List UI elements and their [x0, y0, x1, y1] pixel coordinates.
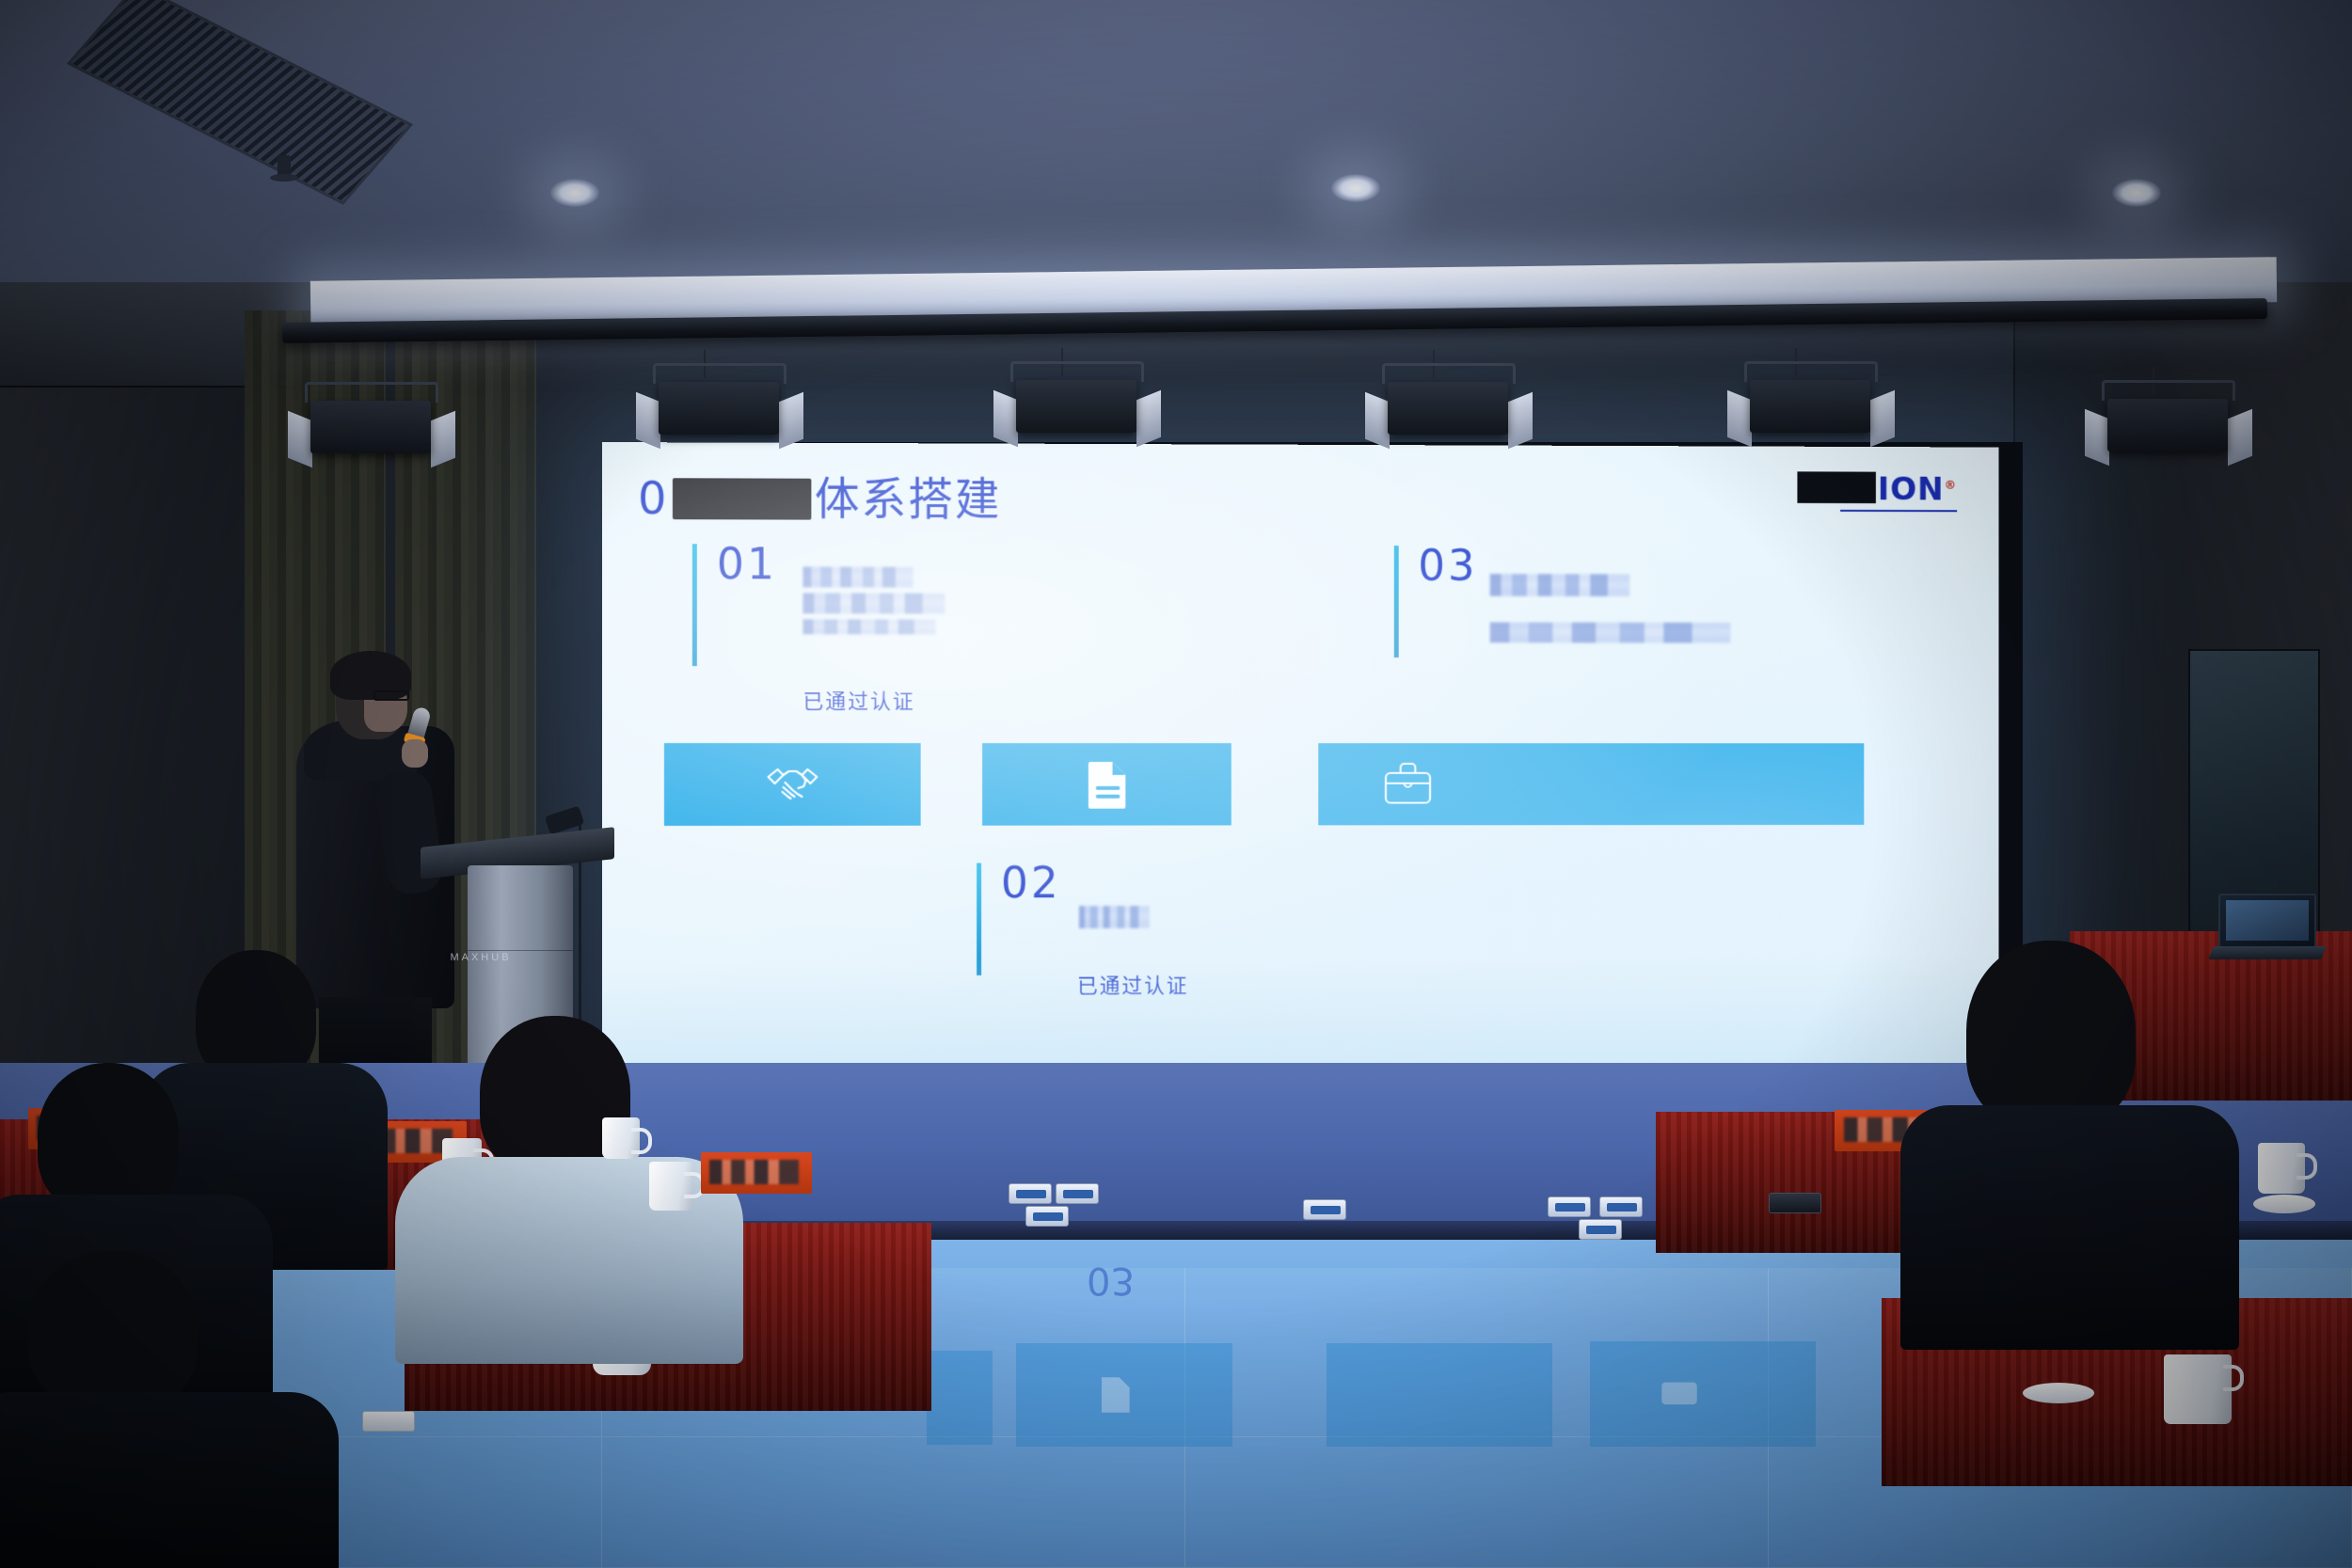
block-02-status: 已通过认证: [1077, 969, 1188, 999]
audience-head: [38, 1063, 179, 1213]
audience-torso: [0, 1392, 339, 1568]
stage-light-fixture: [1007, 374, 1148, 448]
sprinkler-head: [278, 155, 291, 180]
fixture-body: [2107, 399, 2228, 451]
block-text-redaction: [1490, 574, 1630, 596]
saucer: [2023, 1383, 2094, 1403]
floor-tile: [602, 1437, 1185, 1568]
floor-power-box: [1548, 1196, 1591, 1217]
barn-door-left: [288, 411, 312, 468]
laptop-screen: [2218, 894, 2316, 948]
smartphone[interactable]: [1769, 1193, 1821, 1213]
stage-light-fixture: [2098, 393, 2239, 467]
audience-member: [0, 1251, 310, 1568]
barn-door-left: [1727, 390, 1752, 448]
barn-door-right: [1136, 390, 1161, 448]
lectern-brand-label: MAXHUB: [428, 952, 533, 963]
laptop-base: [2208, 946, 2327, 959]
logo-text: ION: [1878, 471, 1945, 509]
barn-door-right: [1508, 392, 1533, 450]
block-accent-rule: [977, 863, 981, 974]
audience-head: [1966, 941, 2136, 1129]
document-icon: [1077, 754, 1136, 815]
block-text-redaction: [803, 593, 945, 613]
stage-light-fixture: [1740, 374, 1882, 448]
saucer: [2253, 1195, 2315, 1213]
floor-reflection-number: 03: [1087, 1259, 1135, 1302]
slide-block-03: 03: [1394, 546, 1871, 657]
lectern-seam: [468, 950, 573, 951]
briefcase-icon: [1378, 754, 1438, 814]
coffee-mug: [2164, 1354, 2232, 1424]
slide-icon-tile-briefcase: [1318, 743, 1864, 825]
coffee-mug: [602, 1117, 640, 1159]
fixture-yoke: [2102, 380, 2235, 401]
fixture-yoke: [1744, 361, 1878, 382]
ceiling-downlight: [2112, 179, 2161, 207]
conference-room-photo: 0体系搭建 ION® 01 已通过认证 03: [0, 0, 2352, 1568]
block-number: 02: [1001, 857, 1061, 908]
fixture-yoke: [305, 382, 438, 403]
slide-icon-tile-handshake: [664, 743, 921, 826]
stage-light-fixture: [301, 395, 442, 468]
block-text-redaction: [1490, 623, 1731, 643]
audience-torso: [1900, 1105, 2239, 1350]
slide-block-01: 01: [692, 544, 1085, 666]
barn-door-left: [1365, 392, 1390, 450]
block-01-status: 已通过认证: [803, 685, 914, 715]
ceiling-downlight: [1331, 174, 1380, 202]
document-icon-reflection: [1091, 1371, 1138, 1418]
eyeglasses-icon: [373, 690, 409, 701]
floor-power-box: [1599, 1196, 1643, 1217]
logo-underline: [1840, 510, 1957, 512]
floor-reflection-tile: [1016, 1343, 1232, 1447]
fixture-yoke: [1382, 363, 1516, 384]
handshake-icon: [763, 754, 823, 815]
barn-door-right: [2228, 409, 2252, 467]
block-text-redaction: [803, 566, 913, 587]
slide-title-suffix: 体系搭建: [815, 473, 1002, 526]
stage-light-fixture: [649, 376, 790, 450]
barn-door-left: [636, 392, 660, 450]
slide-block-02: 02: [977, 863, 1366, 975]
block-text-redaction: [1079, 906, 1150, 928]
fixture-body: [659, 382, 779, 435]
fixture-body: [1388, 382, 1508, 435]
barn-door-right: [431, 411, 455, 468]
barn-door-right: [1870, 390, 1895, 448]
slide-title-redaction: [672, 478, 810, 519]
block-accent-rule: [692, 544, 697, 666]
audience-head: [28, 1251, 198, 1411]
floor-reflection-tile: [1327, 1343, 1552, 1447]
presenter-hand: [402, 739, 428, 768]
barn-door-right: [779, 392, 803, 450]
block-number: 01: [717, 538, 777, 589]
coffee-mug: [649, 1162, 692, 1211]
name-card-redaction: [709, 1160, 798, 1184]
barn-door-left: [993, 390, 1018, 448]
name-card: [701, 1152, 812, 1194]
audience-head: [196, 950, 316, 1082]
fixture-body: [1750, 380, 1870, 433]
floor-power-box: [1579, 1219, 1622, 1240]
registered-trademark-icon: ®: [1945, 478, 1958, 492]
fixture-yoke: [653, 363, 787, 384]
floor-power-box: [1025, 1206, 1069, 1227]
floor-power-box: [1009, 1183, 1052, 1204]
slide-brand-logo: ION®: [1797, 470, 1957, 508]
block-accent-rule: [1394, 546, 1399, 657]
slide-title-prefix: 0: [638, 472, 668, 525]
logo-redaction: [1797, 471, 1875, 503]
slide-title: 0体系搭建: [638, 461, 1001, 528]
coffee-mug: [2258, 1143, 2305, 1194]
audience-member: [1900, 941, 2220, 1336]
operator-laptop[interactable]: [2211, 894, 2324, 967]
remote-control[interactable]: [362, 1411, 415, 1432]
stage-light-fixture: [1378, 376, 1519, 450]
fixture-body: [310, 401, 431, 453]
fixture-yoke: [1010, 361, 1144, 382]
floor-power-box: [1303, 1199, 1346, 1220]
ceiling-downlight: [550, 179, 599, 207]
floor-tile: [1185, 1437, 1769, 1568]
block-text-redaction: [803, 619, 935, 634]
floor-power-box: [1056, 1183, 1099, 1204]
slide-icon-tile-document: [982, 743, 1232, 826]
floor-reflection-tile: [1590, 1341, 1816, 1447]
briefcase-icon-reflection: [1656, 1368, 1703, 1415]
projection-screen: 0体系搭建 ION® 01 已通过认证 03: [602, 442, 2023, 1072]
barn-door-left: [2085, 409, 2109, 467]
block-number: 03: [1418, 540, 1477, 591]
fixture-body: [1016, 380, 1136, 433]
slide-surface: 0体系搭建 ION® 01 已通过认证 03: [602, 442, 1999, 1072]
floor-reflection-tile: [927, 1351, 993, 1445]
